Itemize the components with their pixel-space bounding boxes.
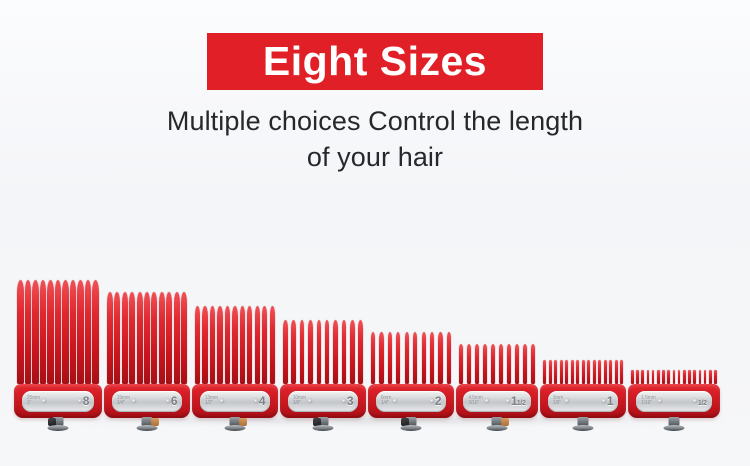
clip-foot bbox=[573, 425, 594, 431]
comb-tooth bbox=[32, 280, 39, 384]
size-plate: 10mm 3/8"3 bbox=[288, 391, 359, 412]
plate-size-text: 6 bbox=[171, 394, 177, 408]
comb-body: 25mm 1"8 bbox=[14, 384, 102, 418]
comb-tooth bbox=[704, 370, 707, 384]
plate-mm-label: 1.5mm 1/16" bbox=[641, 396, 655, 407]
plate-rivet-left bbox=[393, 399, 397, 403]
comb-tooth bbox=[308, 320, 313, 384]
plate-size-number: 11/2 bbox=[506, 394, 526, 408]
comb-tooth bbox=[413, 332, 417, 384]
comb-body: 6mm 1/4"2 bbox=[368, 384, 454, 418]
comb-tooth bbox=[159, 292, 165, 384]
plate-mm-label: 4.5mm 3/16" bbox=[468, 396, 482, 407]
comb-tooth bbox=[631, 370, 634, 384]
comb-mounting-clip bbox=[312, 417, 334, 431]
comb-tooth bbox=[593, 360, 596, 384]
plate-rivet-left bbox=[485, 399, 489, 403]
clip-foot bbox=[487, 425, 508, 431]
comb-tooth bbox=[247, 306, 252, 384]
plate-size-text: 8 bbox=[83, 394, 89, 408]
comb-tooth bbox=[137, 292, 143, 384]
comb-tooth bbox=[604, 360, 607, 384]
guard-comb: 6mm 1/4"2 bbox=[368, 332, 454, 418]
plate-left-group: 3mm 1/8" bbox=[553, 396, 570, 407]
comb-teeth bbox=[456, 344, 538, 384]
plate-size-text: 3 bbox=[347, 394, 353, 408]
comb-tooth bbox=[396, 332, 400, 384]
comb-tooth bbox=[515, 344, 519, 384]
comb-tooth bbox=[144, 292, 150, 384]
comb-tooth bbox=[92, 280, 99, 384]
comb-tooth bbox=[283, 320, 288, 384]
comb-tooth bbox=[467, 344, 471, 384]
size-plate: 3mm 1/8"1 bbox=[548, 391, 619, 412]
comb-tooth bbox=[202, 306, 207, 384]
headline-text: Eight Sizes bbox=[263, 41, 487, 82]
comb-tooth bbox=[549, 360, 552, 384]
clip-foot bbox=[137, 425, 158, 431]
plate-mm-label: 6mm 1/4" bbox=[381, 396, 392, 407]
plate-size-number: 8 bbox=[78, 394, 89, 408]
comb-mounting-clip bbox=[663, 417, 685, 431]
comb-tooth bbox=[491, 344, 495, 384]
plate-left-group: 13mm 1/2" bbox=[205, 396, 224, 407]
comb-tooth bbox=[255, 306, 260, 384]
comb-tooth bbox=[291, 320, 296, 384]
plate-rivet-right bbox=[693, 399, 697, 403]
plate-size-number: 3 bbox=[342, 394, 353, 408]
plate-rivet-left bbox=[132, 399, 136, 403]
comb-teeth bbox=[540, 360, 626, 384]
comb-tooth bbox=[388, 332, 392, 384]
comb-tooth bbox=[641, 370, 644, 384]
comb-tooth bbox=[543, 360, 546, 384]
comb-tooth bbox=[615, 360, 618, 384]
comb-tooth bbox=[438, 332, 442, 384]
comb-tooth bbox=[693, 370, 696, 384]
comb-tooth bbox=[667, 370, 670, 384]
plate-left-group: 25mm 1" bbox=[27, 396, 46, 407]
size-plate: 6mm 1/4"2 bbox=[376, 391, 447, 412]
comb-teeth bbox=[280, 320, 366, 384]
comb-tooth bbox=[70, 280, 77, 384]
comb-tooth bbox=[647, 370, 650, 384]
comb-body: 10mm 3/8"3 bbox=[280, 384, 366, 418]
comb-tooth bbox=[678, 370, 681, 384]
comb-tooth bbox=[107, 292, 113, 384]
comb-tooth bbox=[317, 320, 322, 384]
plate-size-number: 1/2 bbox=[693, 394, 706, 408]
comb-tooth bbox=[576, 360, 579, 384]
comb-tooth bbox=[499, 344, 503, 384]
plate-rivet-left bbox=[565, 399, 569, 403]
plate-rivet-right bbox=[430, 399, 434, 403]
comb-tooth bbox=[195, 306, 200, 384]
subtitle-line-2: of your hair bbox=[0, 140, 750, 176]
comb-tooth bbox=[523, 344, 527, 384]
plate-rivet-right bbox=[254, 399, 258, 403]
comb-tooth bbox=[673, 370, 676, 384]
comb-tooth bbox=[350, 320, 355, 384]
comb-teeth bbox=[628, 370, 720, 384]
comb-teeth bbox=[368, 332, 454, 384]
comb-tooth bbox=[620, 360, 623, 384]
comb-tooth bbox=[371, 332, 375, 384]
comb-body: 3mm 1/8"1 bbox=[540, 384, 626, 418]
plate-size-text: 2 bbox=[435, 394, 441, 408]
comb-tooth bbox=[609, 360, 612, 384]
comb-tooth bbox=[174, 292, 180, 384]
plate-rivet-left bbox=[308, 399, 312, 403]
comb-tooth bbox=[217, 306, 222, 384]
comb-mounting-clip bbox=[400, 417, 422, 431]
comb-tooth bbox=[560, 360, 563, 384]
size-plate: 25mm 1"8 bbox=[22, 391, 94, 412]
comb-body: 1.5mm 1/16"1/2 bbox=[628, 384, 720, 418]
comb-tooth bbox=[652, 370, 655, 384]
comb-tooth bbox=[475, 344, 479, 384]
comb-mounting-clip bbox=[486, 417, 508, 431]
clip-foot bbox=[48, 425, 69, 431]
plate-left-group: 10mm 3/8" bbox=[293, 396, 312, 407]
comb-tooth bbox=[25, 280, 32, 384]
comb-tooth bbox=[430, 332, 434, 384]
comb-tooth bbox=[129, 292, 135, 384]
plate-mm-label: 25mm 1" bbox=[27, 396, 40, 407]
product-feature-image: Eight Sizes Multiple choices Control the… bbox=[0, 0, 750, 466]
plate-rivet-right bbox=[342, 399, 346, 403]
subtitle: Multiple choices Control the length of y… bbox=[0, 104, 750, 176]
comb-tooth bbox=[531, 344, 535, 384]
comb-tooth bbox=[699, 370, 702, 384]
comb-tooth bbox=[405, 332, 409, 384]
comb-tooth bbox=[422, 332, 426, 384]
plate-rivet-right bbox=[506, 399, 510, 403]
comb-tooth bbox=[582, 360, 585, 384]
comb-tooth bbox=[447, 332, 451, 384]
size-plate: 19mm 3/4"6 bbox=[112, 391, 183, 412]
plate-rivet-left bbox=[42, 399, 46, 403]
comb-tooth bbox=[232, 306, 237, 384]
comb-tooth bbox=[379, 332, 383, 384]
comb-tooth bbox=[483, 344, 487, 384]
guard-comb-row: 25mm 1"819mm 3/4"613mm 1/2"410mm 3/8"36m… bbox=[0, 228, 750, 418]
plate-mm-label: 19mm 3/4" bbox=[117, 396, 130, 407]
plate-size-text: 4 bbox=[259, 394, 265, 408]
comb-tooth bbox=[598, 360, 601, 384]
plate-size-number: 2 bbox=[430, 394, 441, 408]
plate-left-group: 6mm 1/4" bbox=[381, 396, 398, 407]
plate-mm-label: 3mm 1/8" bbox=[553, 396, 564, 407]
plate-left-group: 4.5mm 3/16" bbox=[468, 396, 488, 407]
plate-size-number: 4 bbox=[254, 394, 265, 408]
subtitle-line-1: Multiple choices Control the length bbox=[167, 106, 583, 136]
comb-tooth bbox=[40, 280, 47, 384]
comb-mounting-clip bbox=[136, 417, 158, 431]
comb-tooth bbox=[300, 320, 305, 384]
comb-body: 4.5mm 3/16"11/2 bbox=[456, 384, 538, 418]
comb-tooth bbox=[181, 292, 187, 384]
clip-foot bbox=[313, 425, 334, 431]
comb-tooth bbox=[262, 306, 267, 384]
plate-size-number: 6 bbox=[166, 394, 177, 408]
comb-tooth bbox=[688, 370, 691, 384]
guard-comb: 3mm 1/8"1 bbox=[540, 360, 626, 418]
comb-tooth bbox=[122, 292, 128, 384]
comb-tooth bbox=[342, 320, 347, 384]
comb-teeth bbox=[14, 280, 102, 384]
clip-foot bbox=[664, 425, 685, 431]
guard-comb: 4.5mm 3/16"11/2 bbox=[456, 344, 538, 418]
comb-tooth bbox=[709, 370, 712, 384]
guard-comb: 25mm 1"8 bbox=[14, 280, 102, 418]
comb-tooth bbox=[358, 320, 363, 384]
plate-rivet-right bbox=[78, 399, 82, 403]
comb-tooth bbox=[85, 280, 92, 384]
comb-tooth bbox=[151, 292, 157, 384]
comb-tooth bbox=[587, 360, 590, 384]
clip-foot bbox=[401, 425, 422, 431]
comb-tooth bbox=[662, 370, 665, 384]
plate-rivet-right bbox=[166, 399, 170, 403]
comb-tooth bbox=[325, 320, 330, 384]
plate-mm-label: 10mm 3/8" bbox=[293, 396, 306, 407]
plate-size-text: 1/2 bbox=[698, 394, 706, 408]
comb-tooth bbox=[47, 280, 54, 384]
comb-tooth bbox=[333, 320, 338, 384]
comb-tooth bbox=[636, 370, 639, 384]
comb-tooth bbox=[683, 370, 686, 384]
plate-left-group: 1.5mm 1/16" bbox=[641, 396, 661, 407]
clip-foot bbox=[225, 425, 246, 431]
comb-tooth bbox=[17, 280, 24, 384]
comb-teeth bbox=[192, 306, 278, 384]
comb-tooth bbox=[459, 344, 463, 384]
comb-tooth bbox=[210, 306, 215, 384]
size-plate: 13mm 1/2"4 bbox=[200, 391, 271, 412]
comb-tooth bbox=[507, 344, 511, 384]
plate-rivet-left bbox=[658, 399, 662, 403]
headline-banner: Eight Sizes bbox=[207, 33, 543, 90]
plate-mm-label: 13mm 1/2" bbox=[205, 396, 218, 407]
comb-body: 19mm 3/4"6 bbox=[104, 384, 190, 418]
comb-mounting-clip bbox=[47, 417, 69, 431]
comb-tooth bbox=[571, 360, 574, 384]
comb-teeth bbox=[104, 292, 190, 384]
comb-tooth bbox=[77, 280, 84, 384]
comb-body: 13mm 1/2"4 bbox=[192, 384, 278, 418]
guard-comb: 19mm 3/4"6 bbox=[104, 292, 190, 418]
comb-tooth bbox=[714, 370, 717, 384]
plate-size-text: 1 bbox=[607, 394, 613, 408]
comb-tooth bbox=[225, 306, 230, 384]
size-plate: 1.5mm 1/16"1/2 bbox=[636, 391, 711, 412]
plate-size-number: 1 bbox=[602, 394, 613, 408]
guard-comb: 13mm 1/2"4 bbox=[192, 306, 278, 418]
comb-mounting-clip bbox=[572, 417, 594, 431]
comb-tooth bbox=[55, 280, 62, 384]
comb-tooth bbox=[554, 360, 557, 384]
comb-tooth bbox=[240, 306, 245, 384]
plate-left-group: 19mm 3/4" bbox=[117, 396, 136, 407]
comb-tooth bbox=[270, 306, 275, 384]
comb-tooth bbox=[62, 280, 69, 384]
plate-size-text: 11/2 bbox=[511, 394, 526, 408]
guard-comb: 10mm 3/8"3 bbox=[280, 320, 366, 418]
comb-tooth bbox=[114, 292, 120, 384]
comb-tooth bbox=[657, 370, 660, 384]
plate-rivet-left bbox=[220, 399, 224, 403]
guard-comb: 1.5mm 1/16"1/2 bbox=[628, 370, 720, 418]
comb-mounting-clip bbox=[224, 417, 246, 431]
plate-rivet-right bbox=[602, 399, 606, 403]
comb-tooth bbox=[565, 360, 568, 384]
comb-tooth bbox=[166, 292, 172, 384]
size-plate: 4.5mm 3/16"11/2 bbox=[463, 391, 530, 412]
